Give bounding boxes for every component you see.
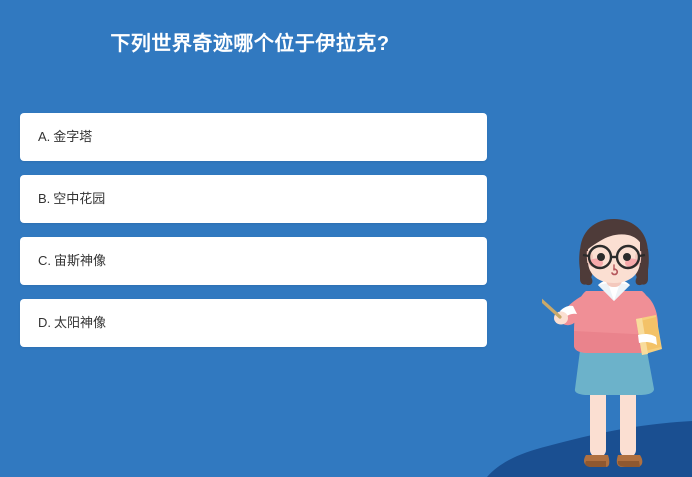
option-card-d[interactable]: D. 太阳神像 <box>20 299 487 347</box>
option-letter-b: B. <box>38 191 50 207</box>
option-card-c[interactable]: C. 宙斯神像 <box>20 237 487 285</box>
option-card-b[interactable]: B. 空中花园 <box>20 175 487 223</box>
option-card-a[interactable]: A. 金字塔 <box>20 113 487 161</box>
option-letter-c: C. <box>38 253 51 269</box>
options-list: A. 金字塔 B. 空中花园 C. 宙斯神像 D. 太阳神像 <box>20 113 487 347</box>
option-label-b: 空中花园 <box>53 191 105 207</box>
option-label-d: 太阳神像 <box>54 315 106 331</box>
option-letter-d: D. <box>38 315 51 331</box>
page-title: 下列世界奇迹哪个位于伊拉克? <box>0 30 500 58</box>
option-letter-a: A. <box>38 129 50 145</box>
quiz-screen: 下列世界奇迹哪个位于伊拉克? A. 金字塔 B. 空中花园 C. 宙斯神像 D.… <box>0 0 692 477</box>
option-label-c: 宙斯神像 <box>54 253 106 269</box>
option-label-a: 金字塔 <box>53 129 92 145</box>
teacher-illustration-icon <box>542 217 692 477</box>
